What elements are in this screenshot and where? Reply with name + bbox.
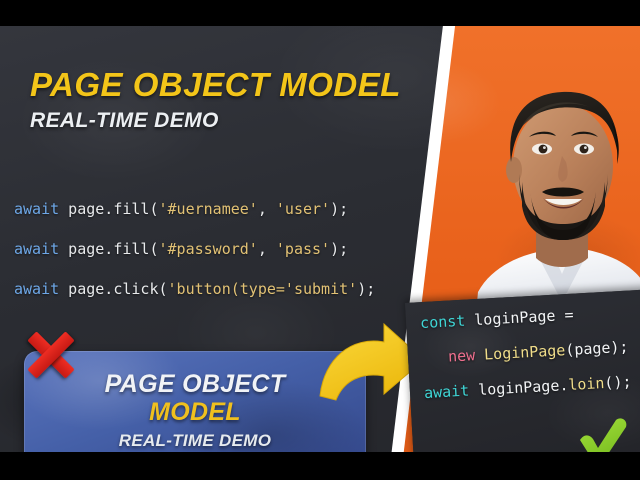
code-line: await page.click('button(type='submit'); — [14, 282, 414, 297]
code-line: await page.fill('#password', 'pass'); — [14, 242, 414, 257]
code-keyword: await — [14, 200, 59, 218]
letterbox-top — [0, 0, 640, 26]
after-code-block: const loginPage = new LoginPage(page); a… — [420, 302, 640, 421]
code-keyword: await — [14, 240, 59, 258]
code-line: new LoginPage(page); — [422, 337, 640, 366]
card-line-3: REAL-TIME DEMO — [119, 431, 271, 451]
code-plain: , — [258, 240, 276, 258]
code-line: await loginPage.loin(); — [424, 372, 640, 401]
code-keyword: await — [424, 382, 470, 402]
before-code-block: await page.fill('#uernamee', 'user'); aw… — [14, 202, 414, 322]
page-subtitle: REAL-TIME DEMO — [30, 110, 450, 131]
code-plain: loginPage. — [469, 376, 569, 400]
code-plain: , — [258, 200, 276, 218]
thumbnail-content: PAGE OBJECT MODEL REAL-TIME DEMO await p… — [0, 26, 640, 452]
video-thumbnail: PAGE OBJECT MODEL REAL-TIME DEMO await p… — [0, 0, 640, 480]
red-x-icon — [22, 326, 80, 384]
card-line-1: PAGE OBJECT — [105, 371, 286, 397]
code-keyword: await — [14, 280, 59, 298]
letterbox-bottom — [0, 452, 640, 480]
code-plain: ); — [330, 240, 348, 258]
code-plain: ); — [357, 280, 375, 298]
code-keyword: new — [448, 346, 476, 365]
code-plain: page.click( — [59, 280, 167, 298]
code-string: 'user' — [276, 200, 330, 218]
code-string: '#uernamee' — [159, 200, 258, 218]
presenter-photo — [470, 34, 640, 334]
code-plain: (page); — [565, 338, 629, 360]
code-plain: (); — [604, 372, 632, 391]
code-string: 'pass' — [276, 240, 330, 258]
page-title: PAGE OBJECT MODEL — [30, 68, 450, 101]
code-plain: loginPage = — [465, 306, 574, 330]
code-string: '#password' — [159, 240, 258, 258]
code-plain: ); — [330, 200, 348, 218]
code-line: await page.fill('#uernamee', 'user'); — [14, 202, 414, 217]
code-method: loin — [568, 374, 605, 394]
code-plain: page.fill( — [59, 240, 158, 258]
green-check-icon — [576, 418, 630, 452]
code-string: submit' — [294, 280, 357, 298]
card-line-2: MODEL — [149, 399, 241, 427]
code-string: 'button(type=' — [168, 280, 294, 298]
headline: PAGE OBJECT MODEL REAL-TIME DEMO — [30, 68, 450, 131]
code-keyword: const — [420, 312, 466, 332]
code-plain: page.fill( — [59, 200, 158, 218]
code-line: const loginPage = — [420, 302, 640, 331]
code-class: LoginPage — [475, 341, 566, 364]
